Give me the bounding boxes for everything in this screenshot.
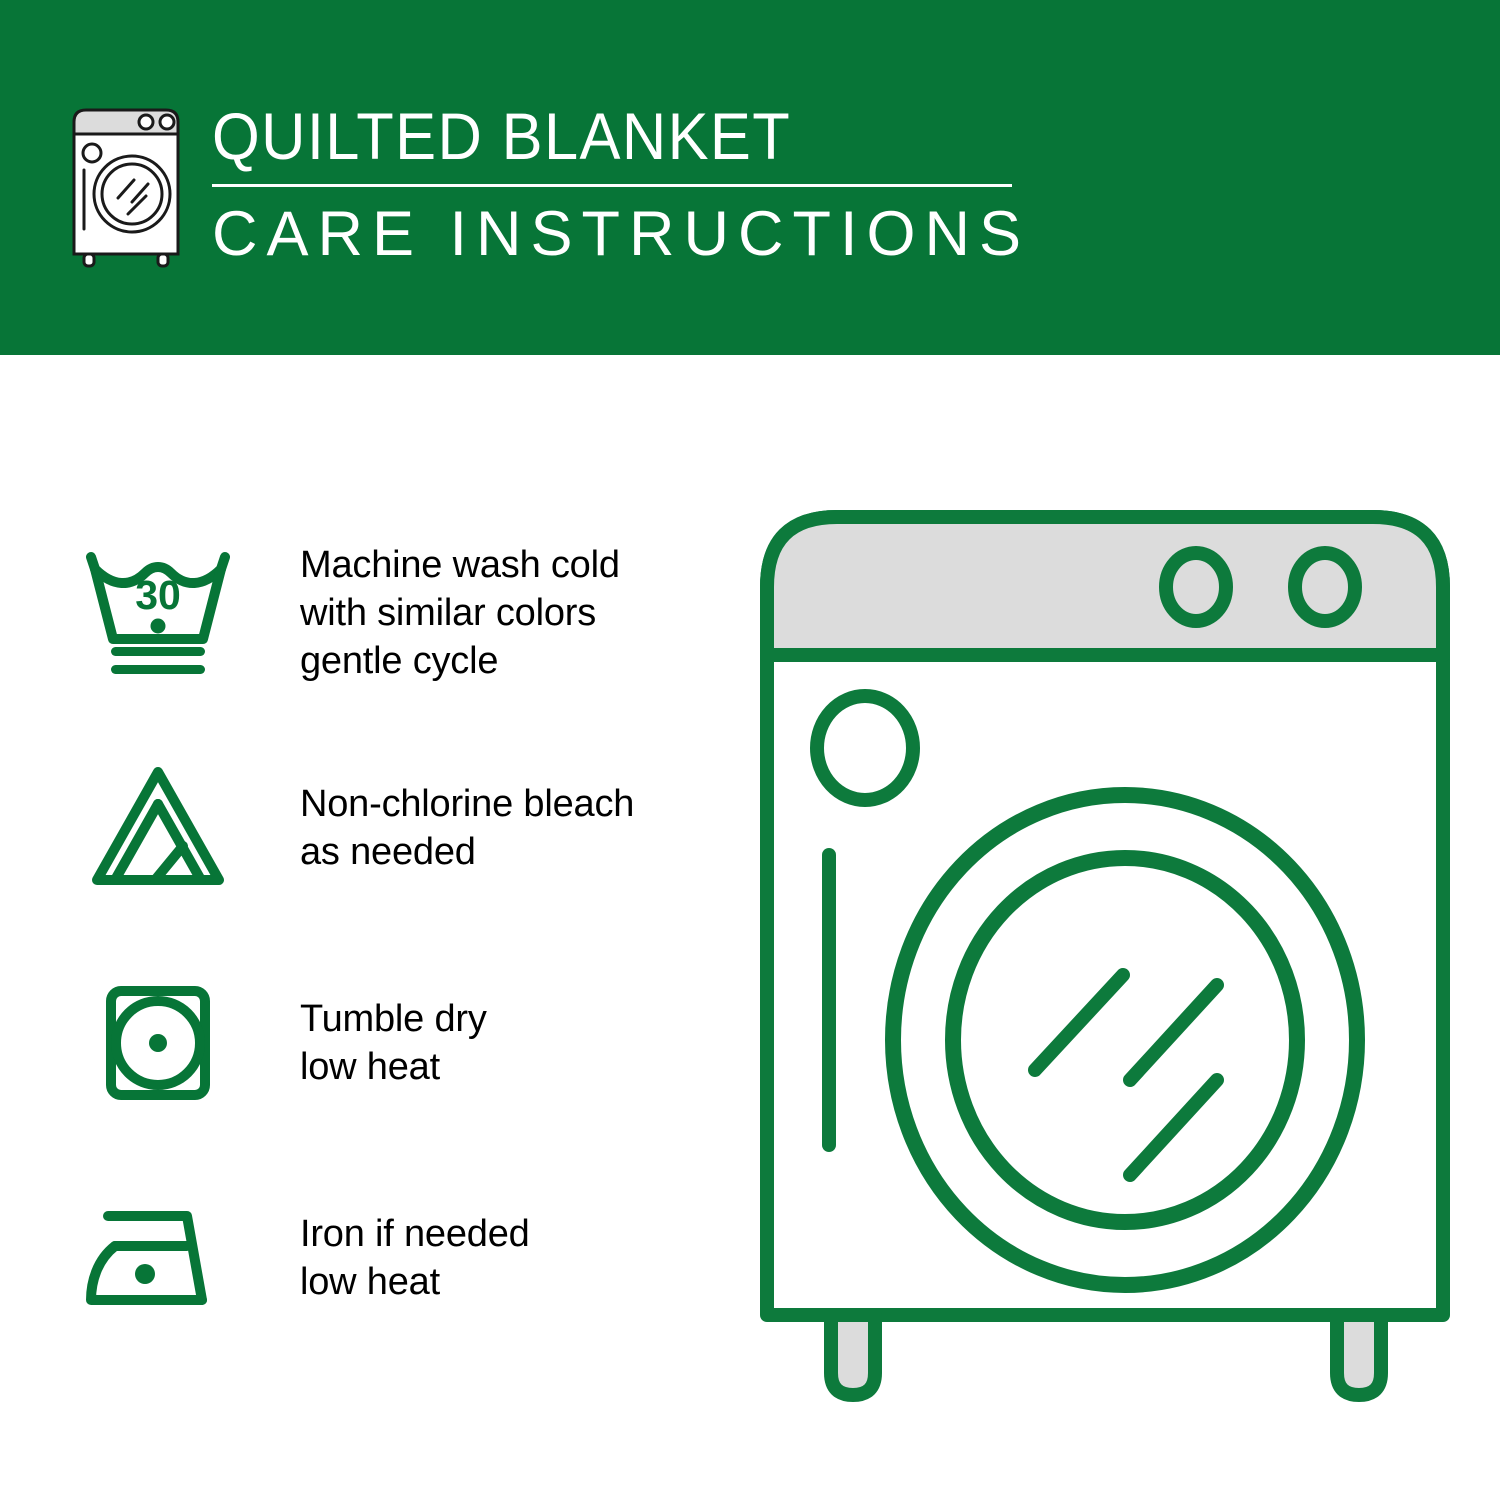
iron-low-heat-icon xyxy=(70,1188,245,1328)
list-item-label: Machine wash cold with similar colors ge… xyxy=(300,541,620,685)
wash-temperature-value: 30 xyxy=(135,572,181,618)
header-content: QUILTED BLANKET CARE INSTRUCTIONS xyxy=(62,98,1030,269)
list-item: Tumble dry low heat xyxy=(70,935,730,1150)
page-subtitle: CARE INSTRUCTIONS xyxy=(212,199,1030,269)
care-instructions-list: 30 Machine wash cold with similar colors… xyxy=(70,505,730,1365)
non-chlorine-bleach-triangle-icon xyxy=(70,758,245,898)
list-item-label: Iron if needed low heat xyxy=(300,1210,530,1306)
list-item-label: Non-chlorine bleach as needed xyxy=(300,780,634,876)
washing-machine-icon xyxy=(62,104,190,269)
title-divider xyxy=(212,184,1012,187)
wash-tub-30-gentle-icon: 30 xyxy=(70,543,245,683)
tumble-dry-low-heat-icon xyxy=(70,973,245,1113)
list-item-label: Tumble dry low heat xyxy=(300,995,487,1091)
header-banner: QUILTED BLANKET CARE INSTRUCTIONS xyxy=(0,0,1500,355)
front-load-washing-machine-illustration xyxy=(745,495,1465,1425)
page-title: QUILTED BLANKET xyxy=(212,98,973,174)
list-item: Non-chlorine bleach as needed xyxy=(70,720,730,935)
list-item: Iron if needed low heat xyxy=(70,1150,730,1365)
header-title-group: QUILTED BLANKET CARE INSTRUCTIONS xyxy=(212,98,1030,269)
list-item: 30 Machine wash cold with similar colors… xyxy=(70,505,730,720)
